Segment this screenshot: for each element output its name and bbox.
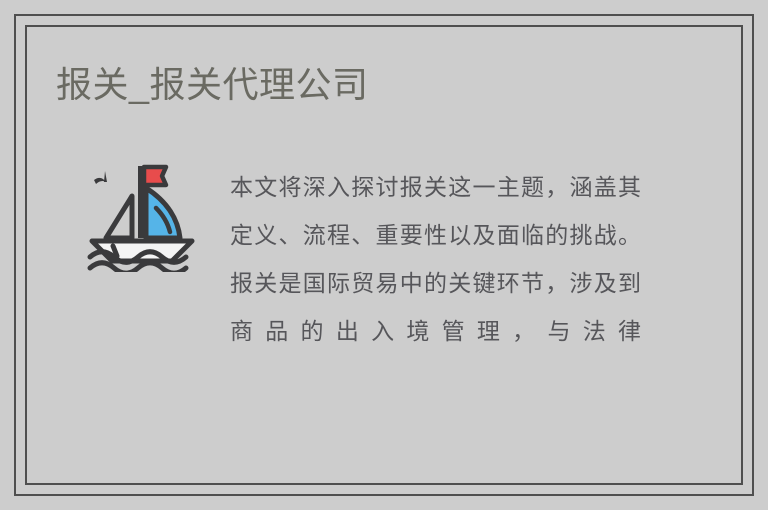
page-root: 报关_报关代理公司 本文将深入探讨报关这一主题，涵盖其定义、流程、重要性以及面临…: [0, 0, 768, 510]
page-title: 报关_报关代理公司: [56, 62, 369, 108]
sailboat-illustration: [86, 158, 198, 272]
jib-icon: [106, 196, 132, 238]
article-body-text: 本文将深入探讨报关这一主题，涵盖其定义、流程、重要性以及面临的挑战。报关是国际贸…: [230, 164, 642, 404]
flag-icon: [144, 167, 166, 185]
bird-wing-icon: [104, 171, 107, 182]
